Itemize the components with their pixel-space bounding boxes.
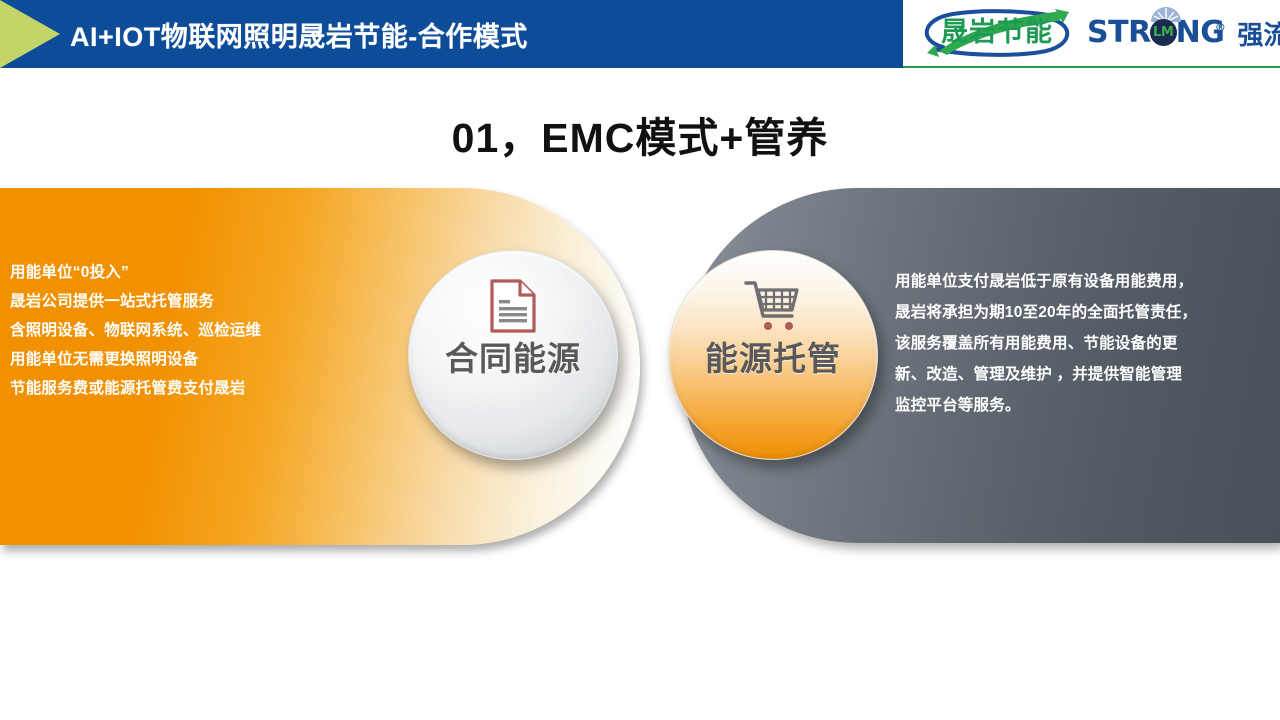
lm-text: LM <box>1150 19 1177 46</box>
circle-contract-energy[interactable]: 合同能源 <box>408 250 618 460</box>
circle-energy-trusteeship[interactable]: 能源托管 <box>668 250 878 460</box>
strong-o-circle: LM <box>1150 19 1177 46</box>
right-panel-line: 新、改造、管理及维护 ，并提供智能管理 <box>895 359 1275 390</box>
right-panel-line: 用能单位支付晟岩低于原有设备用能费用， <box>895 266 1275 297</box>
shengyan-logo-text: 晟岩节能 <box>917 17 1077 47</box>
strong-wordmark: STRLMNG® 强流明照明 <box>1087 5 1280 61</box>
document-icon <box>489 279 537 333</box>
slide-root: AI+IOT物联网照明晟岩节能-合作模式 晟岩节能 <box>0 0 1280 720</box>
left-panel-line: 晟岩公司提供一站式托管服务 <box>10 287 410 316</box>
right-panel-line: 监控平台等服务。 <box>895 390 1275 421</box>
content-panels: 用能单位“0投入” 晟岩公司提供一站式托管服务 含照明设备、物联网系统、巡检运维… <box>0 188 1280 558</box>
shengyan-logo-mark: 晟岩节能 <box>913 5 1081 61</box>
left-panel-text: 用能单位“0投入” 晟岩公司提供一站式托管服务 含照明设备、物联网系统、巡检运维… <box>10 258 410 403</box>
right-panel-line: 晟岩将承担为期10至20年的全面托管责任， <box>895 297 1275 328</box>
left-panel-line: 含照明设备、物联网系统、巡检运维 <box>10 316 410 345</box>
company-logo: 晟岩节能 STRLMNG® 强流明照明 <box>903 0 1280 68</box>
right-panel-text: 用能单位支付晟岩低于原有设备用能费用， 晟岩将承担为期10至20年的全面托管责任… <box>895 266 1275 421</box>
qiangliuming-text: 强流明照明 <box>1237 15 1280 52</box>
header-title: AI+IOT物联网照明晟岩节能-合作模式 <box>70 0 528 68</box>
strong-text-pre: STR <box>1087 18 1151 48</box>
left-panel-line: 用能单位“0投入” <box>10 258 410 287</box>
registered-mark: ® <box>1215 13 1226 43</box>
circle-label: 能源托管 <box>705 339 841 379</box>
slide-header: AI+IOT物联网照明晟岩节能-合作模式 晟岩节能 <box>0 0 1280 70</box>
left-panel-line: 用能单位无需更换照明设备 <box>10 345 410 374</box>
slide-title: 01，EMC模式+管养 <box>0 104 1280 164</box>
shopping-cart-icon <box>744 279 802 333</box>
right-panel-line: 该服务覆盖所有用能费用、节能设备的更 <box>895 328 1275 359</box>
left-panel-line: 节能服务费或能源托管费支付晟岩 <box>10 374 410 403</box>
circle-label: 合同能源 <box>445 339 581 379</box>
